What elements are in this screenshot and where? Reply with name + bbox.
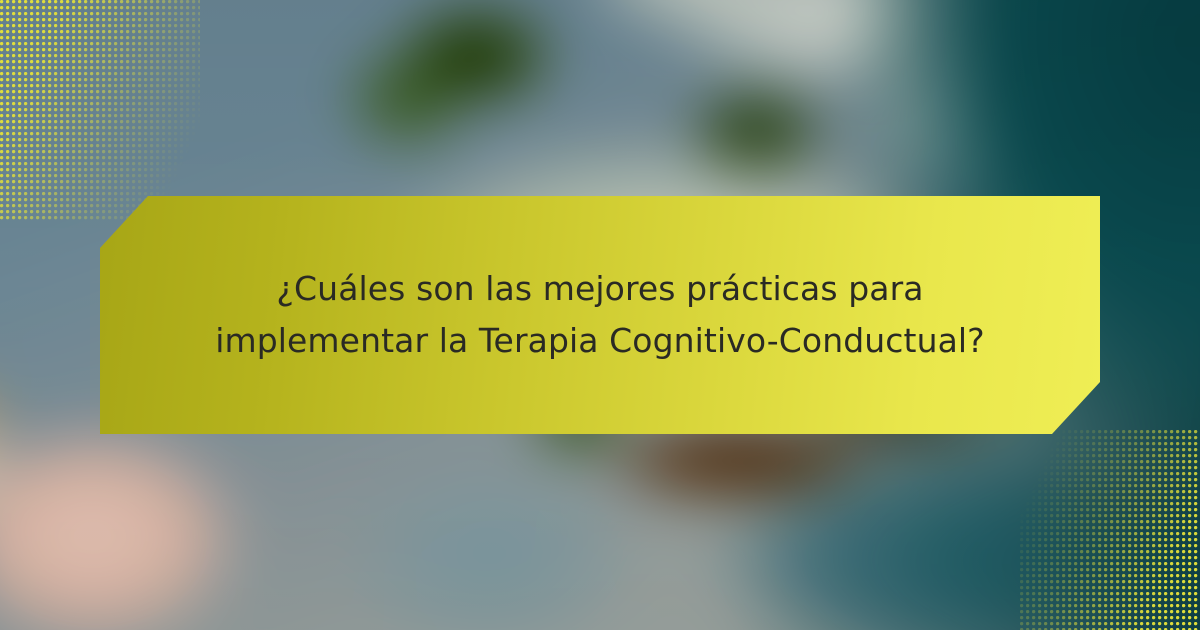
share-card-canvas: ¿Cuáles son las mejores prácticas para i… (0, 0, 1200, 630)
title-banner: ¿Cuáles son las mejores prácticas para i… (100, 196, 1100, 434)
banner-title-text: ¿Cuáles son las mejores prácticas para i… (170, 263, 1030, 367)
